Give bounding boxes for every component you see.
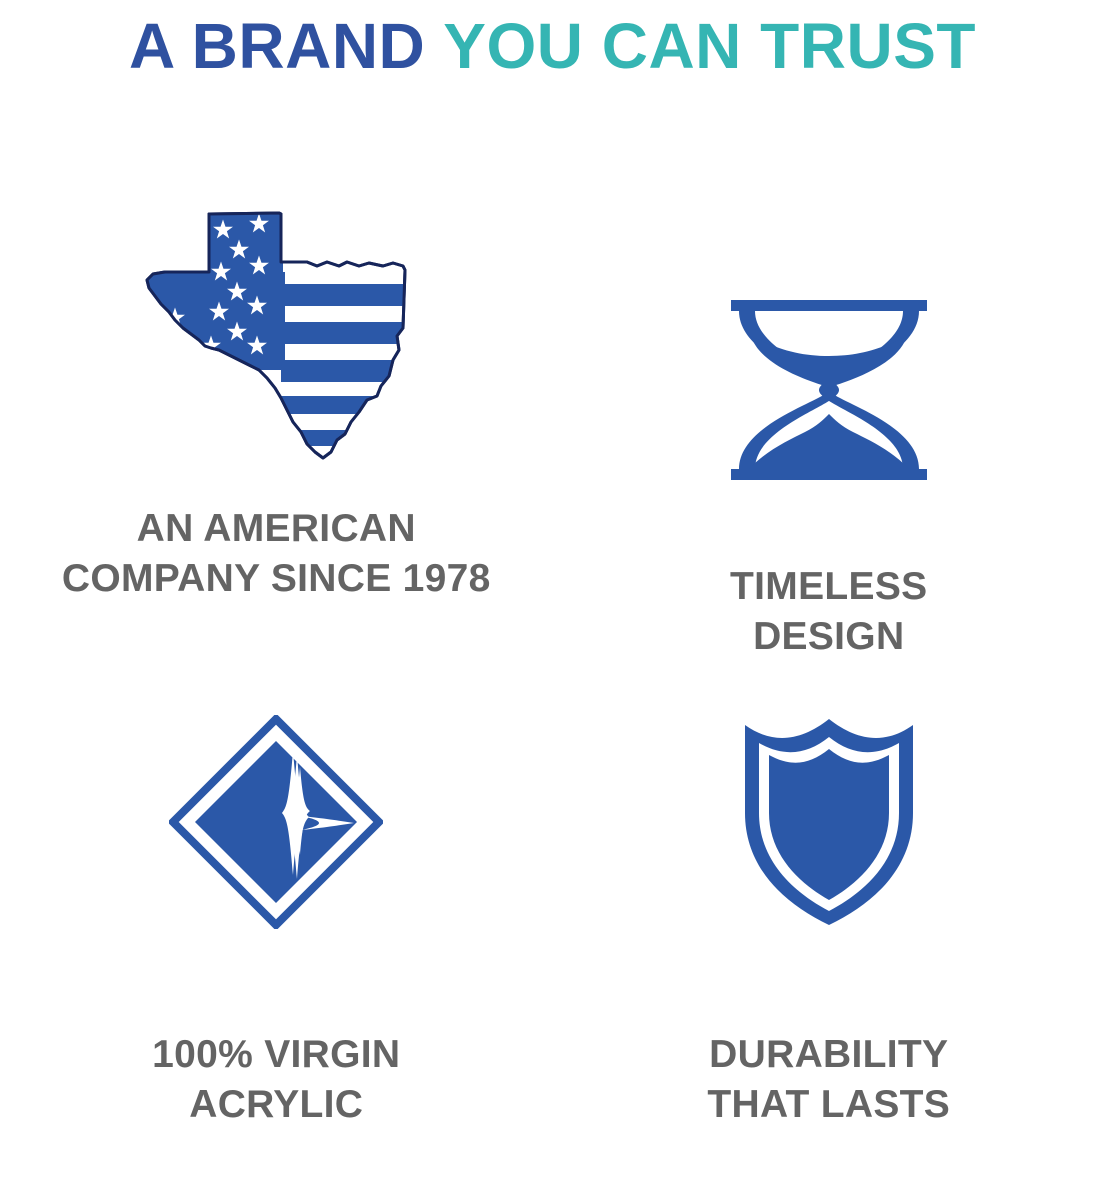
feature-grid: AN AMERICAN COMPANY SINCE 1978 TIMELESS … bbox=[0, 100, 1105, 1191]
page-title: A BRAND YOU CAN TRUST bbox=[0, 0, 1105, 92]
hourglass-icon bbox=[729, 100, 929, 540]
feature-american-company: AN AMERICAN COMPANY SINCE 1978 bbox=[0, 100, 553, 662]
feature-label-virgin-acrylic: 100% VIRGIN ACRYLIC bbox=[0, 1030, 553, 1130]
feature-label-durability: DURABILITY THAT LASTS bbox=[553, 1030, 1105, 1130]
shield-icon bbox=[739, 662, 919, 972]
feature-durability: DURABILITY THAT LASTS bbox=[553, 662, 1105, 1191]
page-title-part-accent: YOU CAN TRUST bbox=[443, 14, 976, 78]
texas-american-flag-icon bbox=[131, 100, 421, 486]
feature-label-timeless-design: TIMELESS DESIGN bbox=[553, 562, 1105, 662]
diamond-sparkle-icon bbox=[169, 662, 383, 972]
page-title-part-primary: A BRAND bbox=[129, 14, 425, 78]
feature-virgin-acrylic: 100% VIRGIN ACRYLIC bbox=[0, 662, 553, 1191]
feature-timeless-design: TIMELESS DESIGN bbox=[553, 100, 1105, 662]
feature-label-american-company: AN AMERICAN COMPANY SINCE 1978 bbox=[0, 504, 553, 604]
